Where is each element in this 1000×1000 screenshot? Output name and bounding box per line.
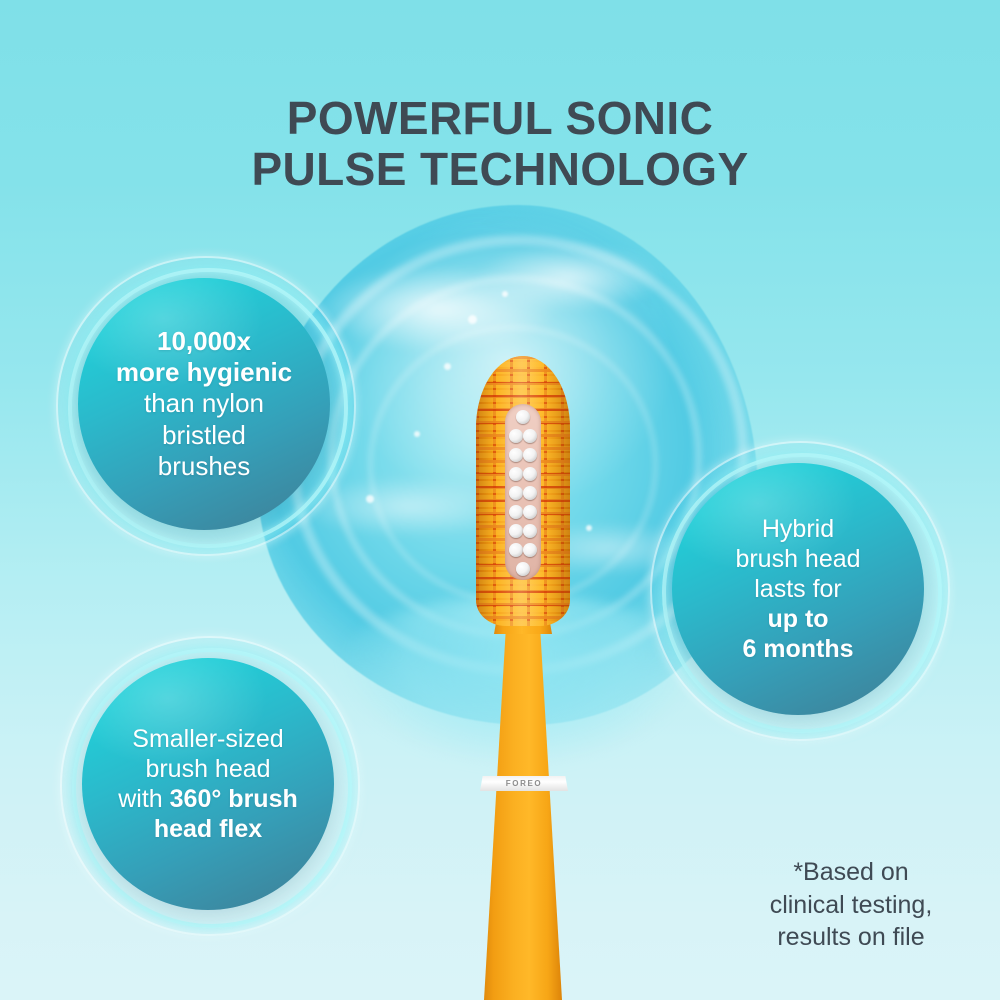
bristle-tip: [516, 410, 530, 424]
page-title: POWERFUL SONIC PULSE TECHNOLOGY: [0, 93, 1000, 196]
feature-bubble-hygienic: 10,000x more hygienic than nylon bristle…: [78, 278, 330, 530]
water-fleck: [366, 495, 374, 503]
bubble-line: bristled: [162, 420, 246, 451]
bristle-tip: [509, 448, 523, 462]
foreo-logo-text: FOREO: [506, 779, 542, 788]
bristle-tip: [523, 543, 537, 557]
bristle-tip: [509, 486, 523, 500]
bubble-line: brush head: [735, 544, 860, 574]
bristle-tip: [509, 429, 523, 443]
bubble-line: more hygienic: [116, 357, 292, 388]
bubble-line: brush head: [145, 754, 270, 784]
bubble-line: lasts for: [754, 574, 842, 604]
bristle-tip: [509, 543, 523, 557]
bristle-tip: [523, 448, 537, 462]
bristle-tip: [523, 486, 537, 500]
center-bristle-pad: [505, 404, 541, 580]
bubble-line: with 360° brush: [118, 784, 298, 814]
bristle-tip: [509, 467, 523, 481]
bubble-line: head flex: [154, 814, 262, 844]
footnote-line: clinical testing,: [716, 889, 986, 922]
feature-bubble-flex: Smaller-sized brush head with 360° brush…: [82, 658, 334, 910]
title-line-1: POWERFUL SONIC: [0, 93, 1000, 145]
feature-bubble-lifespan-text: Hybrid brush head lasts for up to 6 mont…: [672, 463, 924, 715]
footnote-disclaimer: *Based on clinical testing, results on f…: [716, 856, 986, 954]
bristle-tip: [523, 524, 537, 538]
bubble-line: Hybrid: [762, 514, 834, 544]
bubble-line: brushes: [158, 451, 251, 482]
bubble-line: Smaller-sized: [132, 724, 283, 754]
bristle-tip: [509, 524, 523, 538]
feature-bubble-hygienic-text: 10,000x more hygienic than nylon bristle…: [78, 278, 330, 530]
product-feature-poster: POWERFUL SONIC PULSE TECHNOLOGY 10,000x …: [0, 0, 1000, 1000]
water-fleck: [414, 431, 420, 437]
bubble-line: 10,000x: [157, 326, 251, 357]
feature-bubble-flex-text: Smaller-sized brush head with 360° brush…: [82, 658, 334, 910]
water-fleck: [502, 291, 508, 297]
bristle-tip: [516, 562, 530, 576]
feature-bubble-lifespan: Hybrid brush head lasts for up to 6 mont…: [672, 463, 924, 715]
bubble-line: up to: [767, 604, 828, 634]
bristle-tip: [523, 429, 537, 443]
bubble-line: 6 months: [742, 634, 853, 664]
brand-band: FOREO: [480, 776, 568, 791]
footnote-line: results on file: [716, 921, 986, 954]
bristle-tip: [523, 467, 537, 481]
water-fleck: [468, 315, 477, 324]
toothbrush-product-image: FOREO: [438, 352, 608, 1000]
bubble-line: than nylon: [144, 388, 264, 419]
footnote-line: *Based on: [716, 856, 986, 889]
toothbrush-handle: [484, 602, 562, 1000]
bristle-tip: [523, 505, 537, 519]
bristle-tip: [509, 505, 523, 519]
title-line-2: PULSE TECHNOLOGY: [0, 144, 1000, 196]
